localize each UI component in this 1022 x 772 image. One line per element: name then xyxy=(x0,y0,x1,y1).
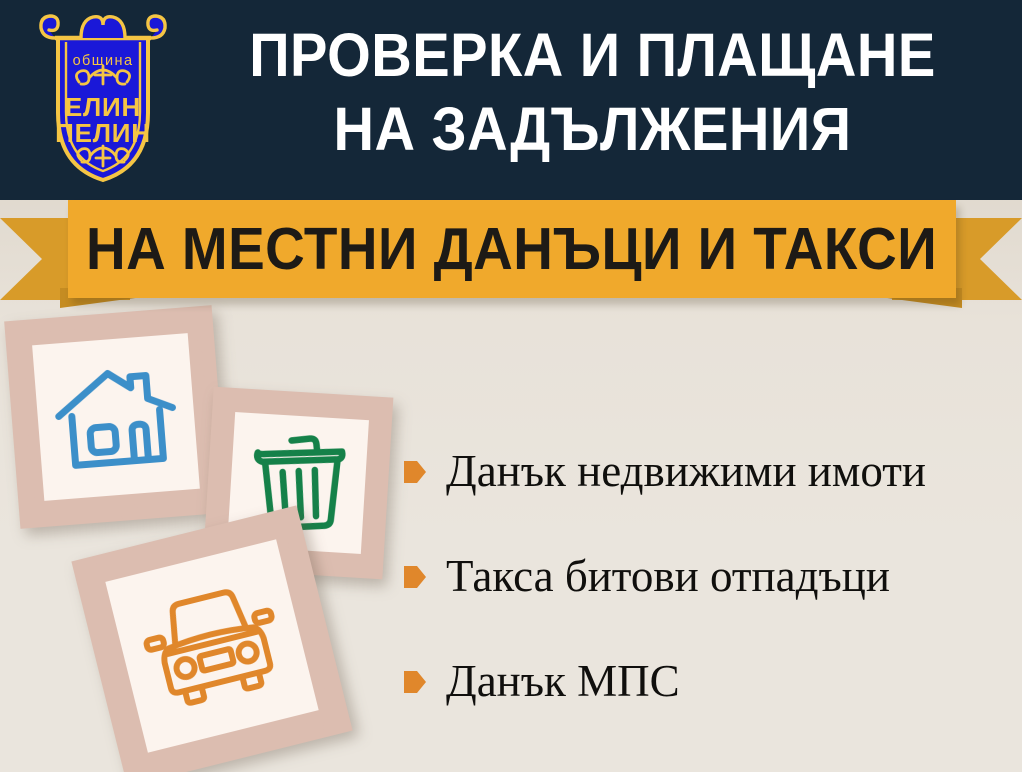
car-front-icon xyxy=(136,577,289,715)
svg-text:ПЕЛИН: ПЕЛИН xyxy=(55,118,151,148)
elin-pelin-municipality-crest: община ЕЛИН ПЕЛИН xyxy=(33,8,173,186)
title-line-2: НА ЗАДЪЛЖЕНИЯ xyxy=(208,92,976,166)
municipality-logo: община ЕЛИН ПЕЛИН xyxy=(33,8,173,186)
list-item[interactable]: Такса битови отпадъци xyxy=(404,523,1014,628)
pentagon-arrow-bullet-icon xyxy=(404,669,426,695)
list-item-label: Данък недвижими имоти xyxy=(446,446,926,496)
pentagon-arrow-bullet-icon xyxy=(404,459,426,485)
poster-title: ПРОВЕРКА И ПЛАЩАНЕ НА ЗАДЪЛЖЕНИЯ xyxy=(175,18,1010,188)
subtitle-ribbon: НА МЕСТНИ ДАНЪЦИ И ТАКСИ xyxy=(0,196,1022,308)
list-item[interactable]: Данък МПС xyxy=(404,628,1014,733)
ribbon-banner: НА МЕСТНИ ДАНЪЦИ И ТАКСИ xyxy=(68,200,956,298)
title-line-1: ПРОВЕРКА И ПЛАЩАНЕ xyxy=(208,18,976,92)
poster-canvas: община ЕЛИН ПЕЛИН ПРОВЕРКА И ПЛАЩАНЕ НА … xyxy=(0,0,1022,772)
list-item-label: Данък МПС xyxy=(446,656,680,706)
list-item[interactable]: Данък недвижими имоти xyxy=(404,418,1014,523)
house-icon xyxy=(51,359,181,474)
pentagon-arrow-bullet-icon xyxy=(404,564,426,590)
ribbon-label: НА МЕСТНИ ДАНЪЦИ И ТАКСИ xyxy=(86,219,937,279)
tax-type-list: Данък недвижими имоти Такса битови отпад… xyxy=(404,418,1014,733)
list-item-label: Такса битови отпадъци xyxy=(446,551,890,601)
stamp-card-property xyxy=(4,305,228,529)
